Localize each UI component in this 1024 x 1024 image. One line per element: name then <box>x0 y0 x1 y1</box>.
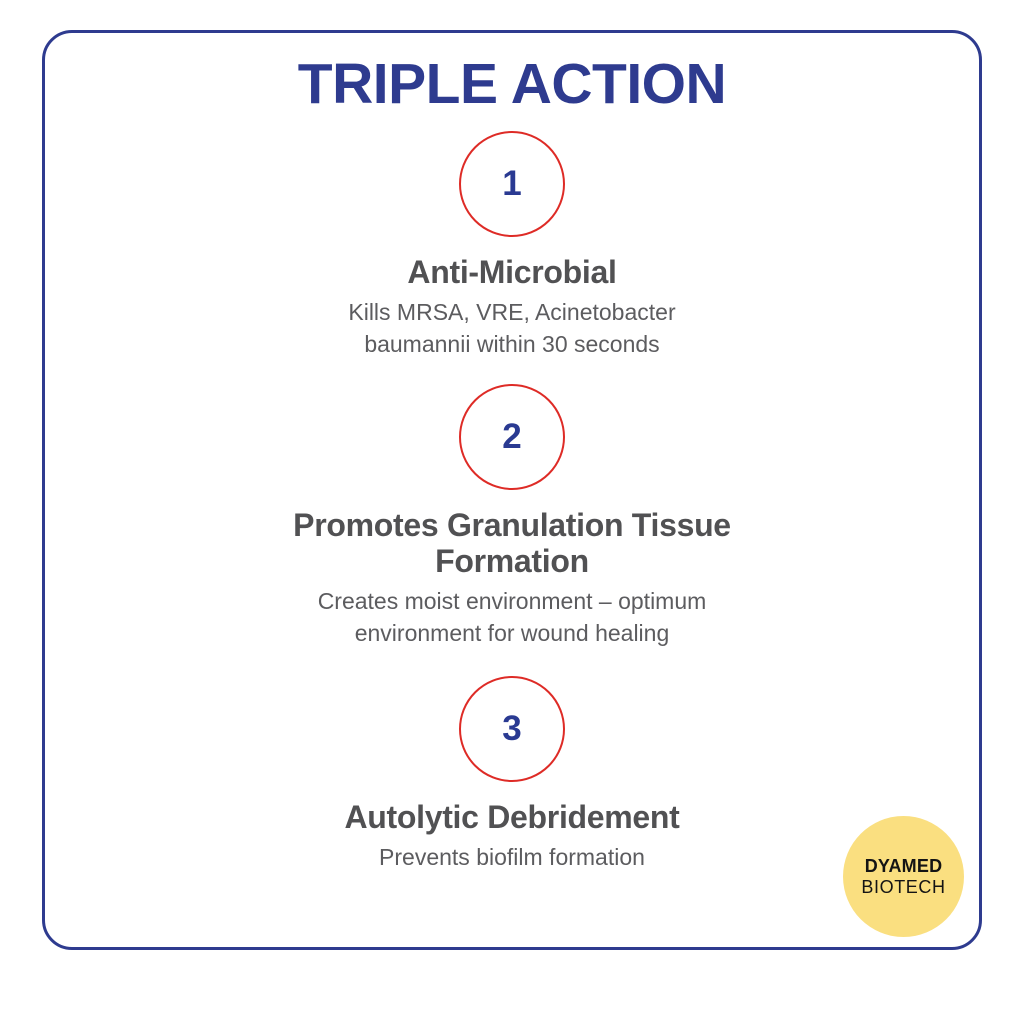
brand-logo: DYAMED BIOTECH <box>843 816 964 937</box>
step-heading-2: Promotes Granulation Tissue Formation <box>282 508 742 580</box>
step-number-badge-2: 2 <box>459 384 565 490</box>
step-description-2: Creates moist environment – optimum envi… <box>312 585 712 650</box>
step-description-1: Kills MRSA, VRE, Acinetobacter baumannii… <box>322 296 702 361</box>
poster-canvas: TRIPLE ACTION 1 Anti-Microbial Kills MRS… <box>0 0 1024 1024</box>
step-item-2: 2 Promotes Granulation Tissue Formation … <box>42 384 982 650</box>
brand-logo-name: DYAMED <box>865 856 943 877</box>
page-title: TRIPLE ACTION <box>298 55 726 115</box>
brand-logo-subtitle: BIOTECH <box>861 877 945 898</box>
step-heading-1: Anti-Microbial <box>407 255 616 291</box>
poster-content: TRIPLE ACTION 1 Anti-Microbial Kills MRS… <box>42 30 982 950</box>
step-number-label-2: 2 <box>502 419 521 454</box>
step-item-3: 3 Autolytic Debridement Prevents biofilm… <box>42 676 982 873</box>
step-number-label-1: 1 <box>502 166 521 201</box>
step-number-label-3: 3 <box>502 711 521 746</box>
step-heading-3: Autolytic Debridement <box>344 800 679 836</box>
step-description-3: Prevents biofilm formation <box>379 841 645 874</box>
step-number-badge-3: 3 <box>459 676 565 782</box>
step-item-1: 1 Anti-Microbial Kills MRSA, VRE, Acinet… <box>42 131 982 361</box>
step-number-badge-1: 1 <box>459 131 565 237</box>
